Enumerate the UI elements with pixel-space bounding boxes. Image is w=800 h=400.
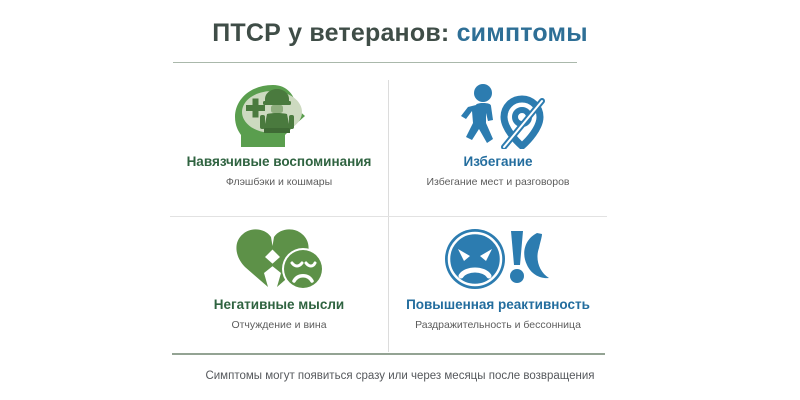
symptom-grid: Навязчивые воспоминания Флэшбэки и кошма…: [170, 76, 607, 353]
quadrant-avoidance[interactable]: Избегание Избегание мест и разговоров: [389, 76, 607, 214]
walking-person-no-location-icon: [446, 80, 550, 152]
quadrant-subtitle: Избегание мест и разговоров: [426, 175, 569, 189]
quadrant-subtitle: Флэшбэки и кошмары: [226, 175, 332, 189]
ptsd-symptoms-slide: ПТСР у ветеранов: симптомы: [0, 0, 800, 400]
quadrant-subtitle: Раздражительность и бессонница: [415, 318, 581, 332]
quadrant-subtitle: Отчуждение и вина: [231, 318, 326, 332]
quadrant-heading: Избегание: [463, 154, 532, 170]
title-divider: [173, 62, 577, 63]
broken-heart-sad-face-icon: [227, 223, 331, 295]
title-main: ПТСР у ветеранов:: [212, 19, 449, 47]
quadrant-negative-thoughts[interactable]: Негативные мысли Отчуждение и вина: [170, 217, 388, 355]
quadrant-intrusive-memories[interactable]: Навязчивые воспоминания Флэшбэки и кошма…: [170, 76, 388, 214]
quadrant-heading: Навязчивые воспоминания: [187, 154, 372, 170]
page-title: ПТСР у ветеранов: симптомы: [0, 18, 800, 48]
title-accent: симптомы: [457, 19, 588, 47]
angry-face-exclamation-moon-icon: [443, 223, 553, 295]
title-text: ПТСР у ветеранов: симптомы: [0, 18, 800, 48]
quadrant-heading: Повышенная реактивность: [406, 297, 590, 313]
quadrant-heading: Негативные мысли: [214, 297, 344, 313]
footer-note: Симптомы могут появиться сразу или через…: [0, 370, 800, 382]
head-soldier-memory-icon: [227, 80, 331, 152]
quadrant-hyperarousal[interactable]: Повышенная реактивность Раздражительност…: [389, 217, 607, 355]
footer-divider: [172, 353, 605, 355]
